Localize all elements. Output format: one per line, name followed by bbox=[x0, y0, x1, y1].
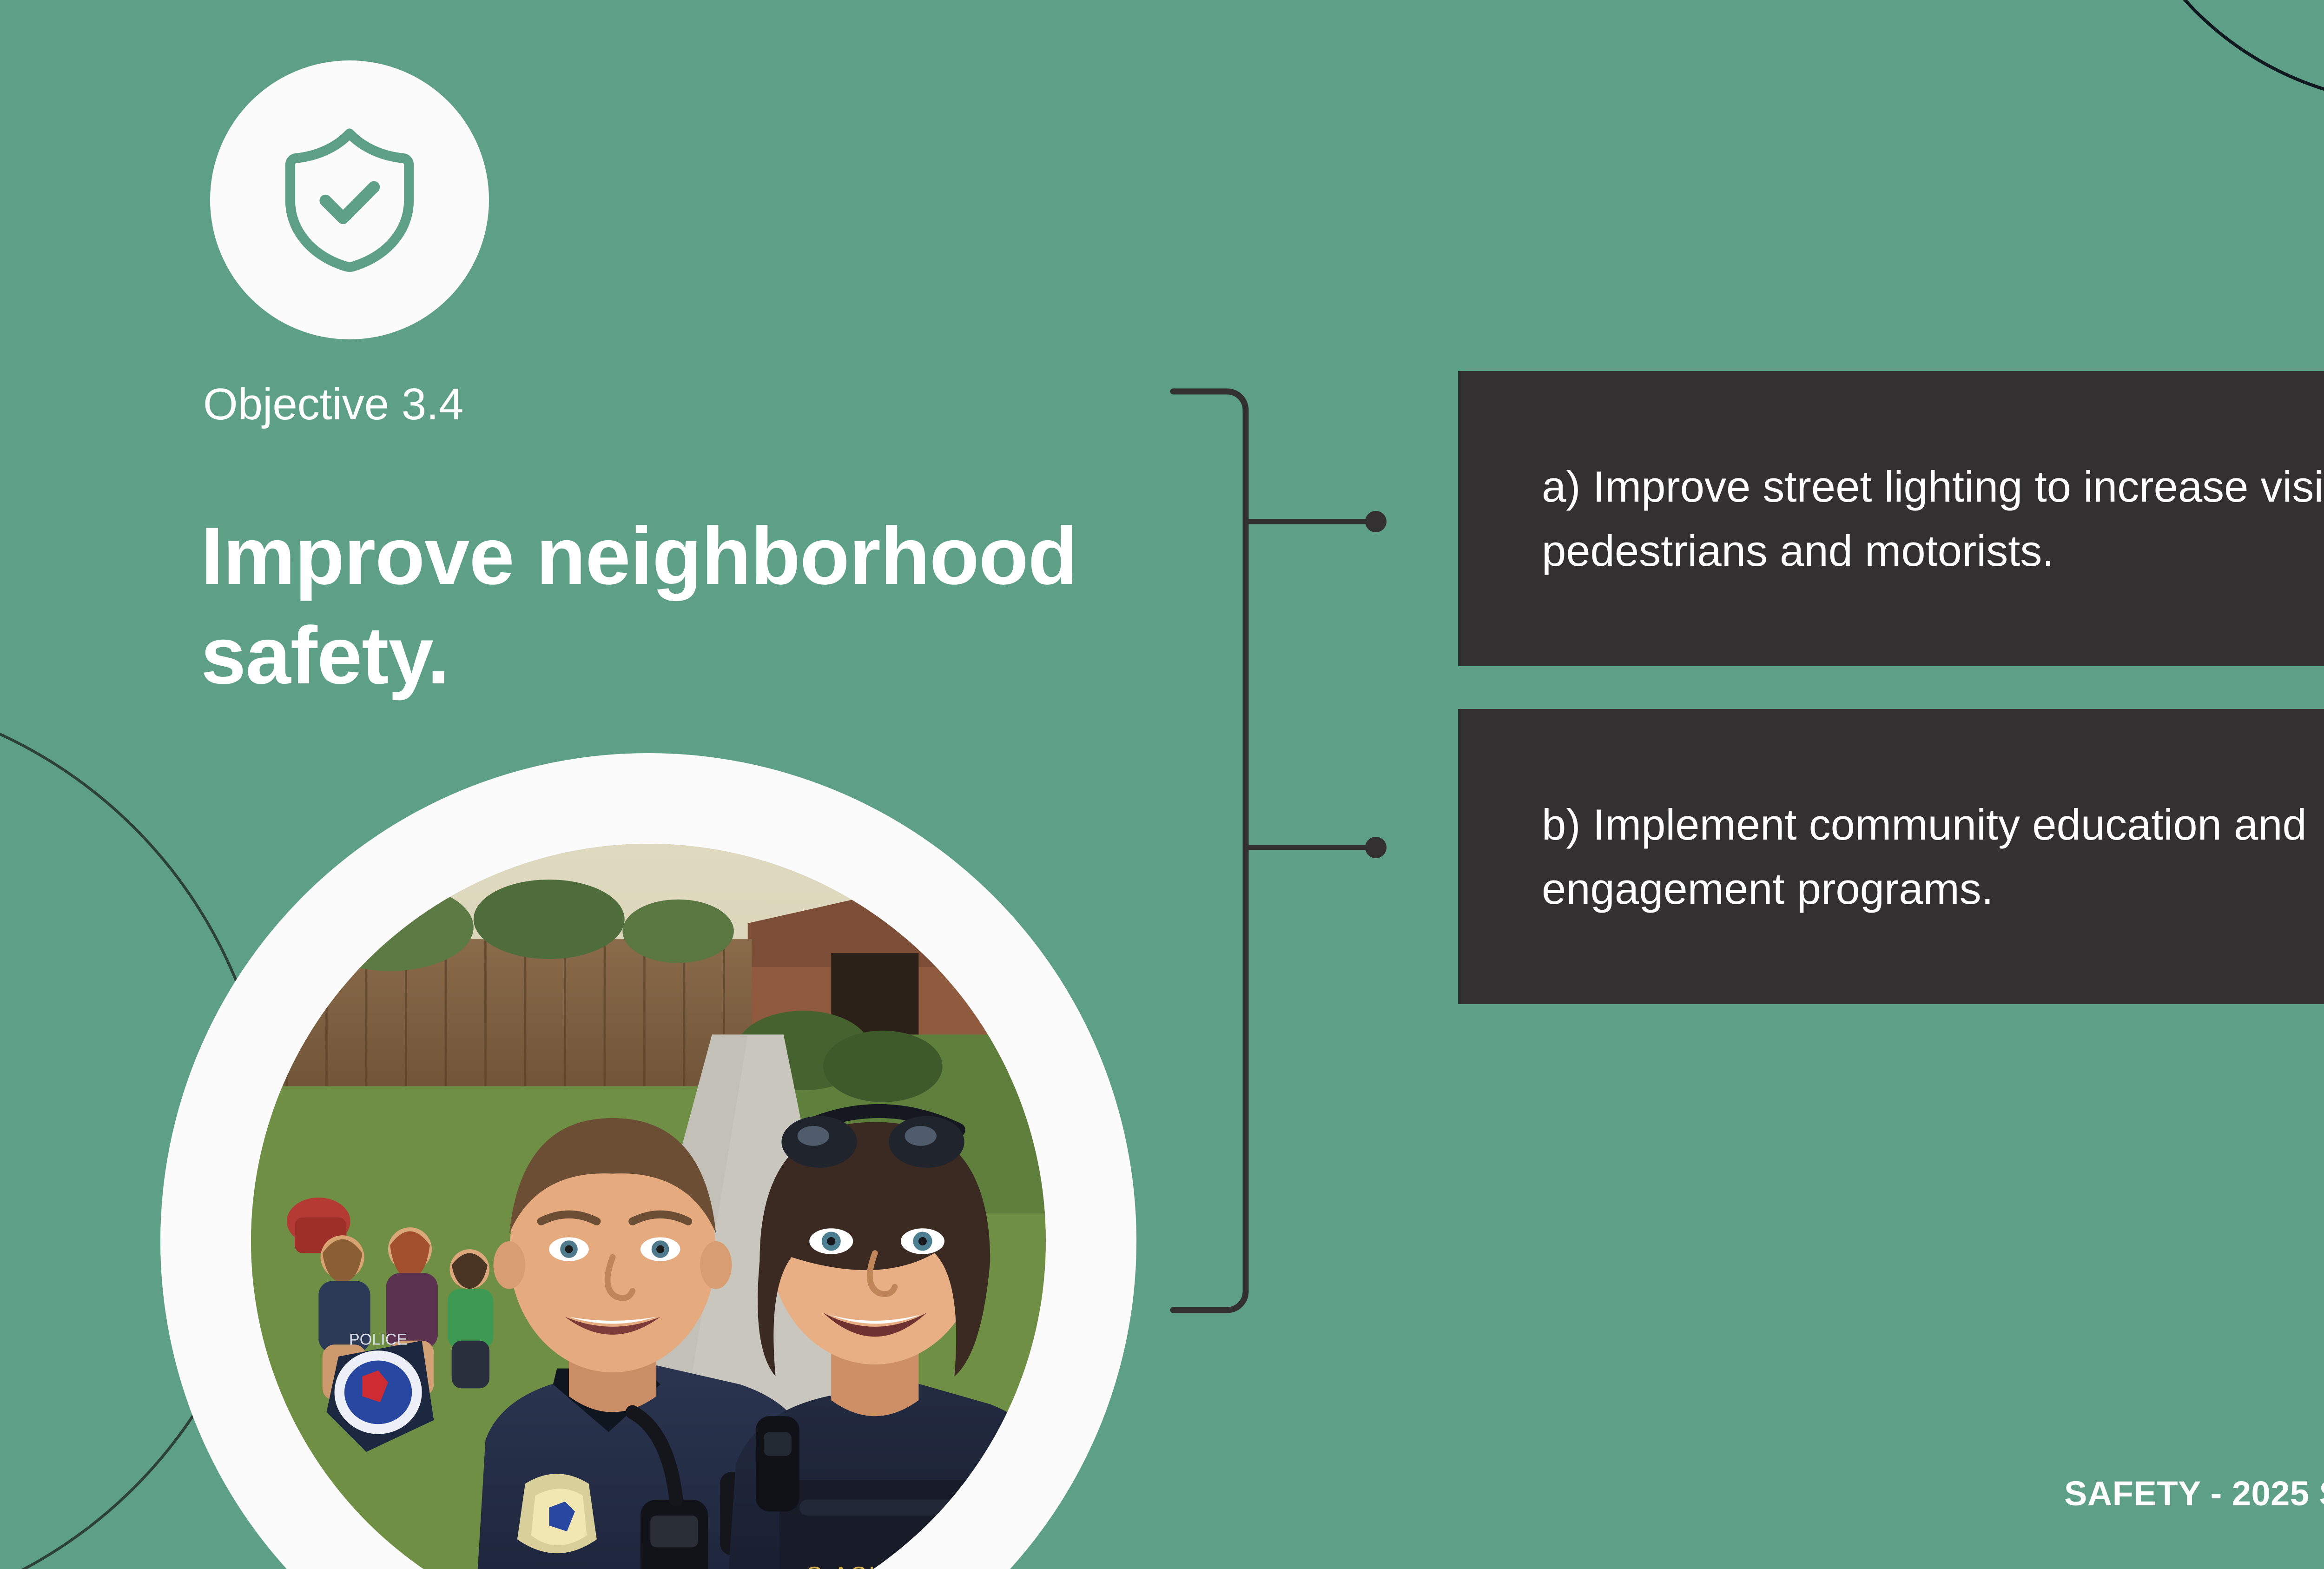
action-item-b: b) Implement community education and eng… bbox=[1458, 709, 2324, 1004]
bracket-connector bbox=[1162, 372, 1422, 1330]
page-title: Improve neighborhood safety. bbox=[201, 507, 1223, 705]
decorative-arc-top-right bbox=[2040, 0, 2324, 107]
footer-label: SAFETY - 2025 Strategic Plan bbox=[2064, 1474, 2324, 1513]
action-item-a-text: a) Improve street lighting to increase v… bbox=[1542, 455, 2324, 582]
svg-text:S.ASHMORE: S.ASHMORE bbox=[806, 1562, 967, 1569]
officers-photo: POLICE bbox=[251, 844, 1046, 1569]
action-item-a: a) Improve street lighting to increase v… bbox=[1458, 371, 2324, 666]
objective-label: Objective 3.4 bbox=[203, 377, 463, 431]
slide-canvas: Objective 3.4 Improve neighborhood safet… bbox=[0, 0, 2324, 1569]
action-item-b-text: b) Implement community education and eng… bbox=[1542, 793, 2324, 920]
safety-badge bbox=[210, 60, 489, 339]
svg-text:POLICE: POLICE bbox=[349, 1331, 407, 1348]
photo-ring: POLICE bbox=[160, 753, 1136, 1569]
shield-check-icon bbox=[268, 119, 431, 281]
